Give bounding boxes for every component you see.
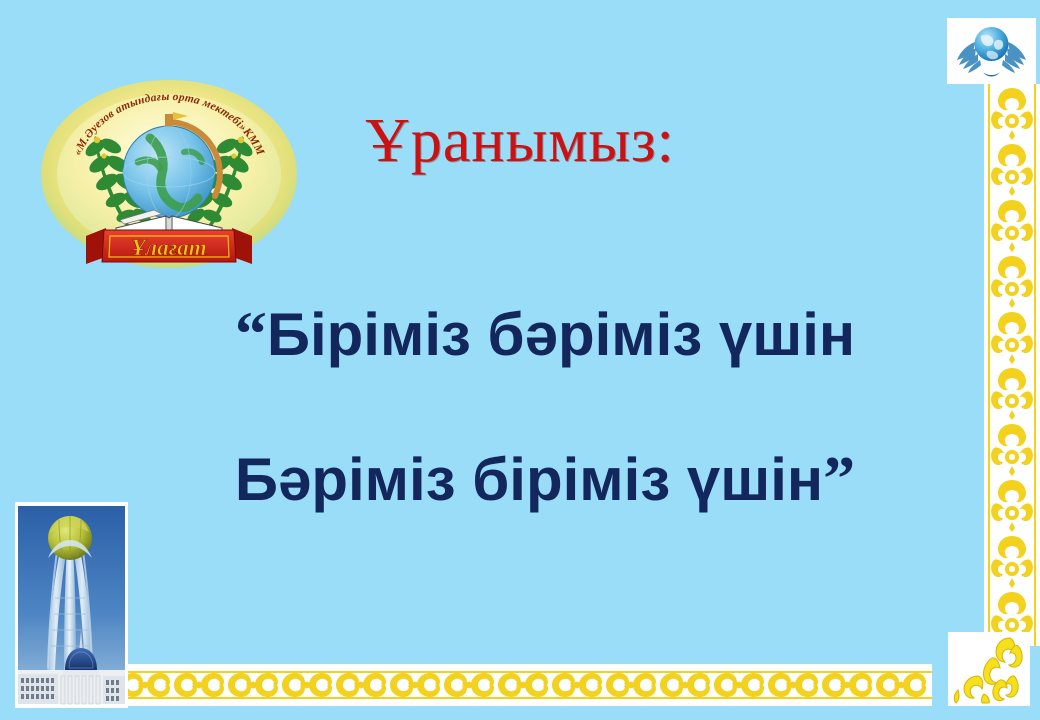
baiterek-tower xyxy=(47,516,93,670)
emblem-banner: Ұлағат xyxy=(86,228,252,264)
kazakh-vertical-ornament xyxy=(984,84,1040,646)
motto-line-1: “Біріміз бәріміз үшін xyxy=(140,300,950,367)
slide-title: Ұранымыз: xyxy=(0,110,1040,172)
kazakh-corner-ornament xyxy=(948,632,1030,706)
school-emblem: «М.Әуезов атындағы орта мектебі»КММ xyxy=(38,78,300,270)
motto-line-2-text: Бәріміз біріміз үшін xyxy=(235,446,823,513)
motto-block: “Біріміз бәріміз үшін Бәріміз біріміз үш… xyxy=(140,300,950,512)
open-quote-mark: “ xyxy=(235,298,267,369)
motto-line-1-text: Біріміз бәріміз үшін xyxy=(267,301,855,368)
slide-canvas: «М.Әуезов атындағы орта мектебі»КММ xyxy=(0,0,1040,720)
kazakh-horizontal-ornament xyxy=(114,664,932,706)
motto-line-2: Бәріміз біріміз үшін” xyxy=(140,445,950,512)
close-quote-mark: ” xyxy=(823,443,855,514)
kazakhstan-globe-wings-emblem xyxy=(947,18,1036,84)
baiterek-tower-photo xyxy=(15,502,128,708)
emblem-banner-text: Ұлағат xyxy=(131,235,206,260)
